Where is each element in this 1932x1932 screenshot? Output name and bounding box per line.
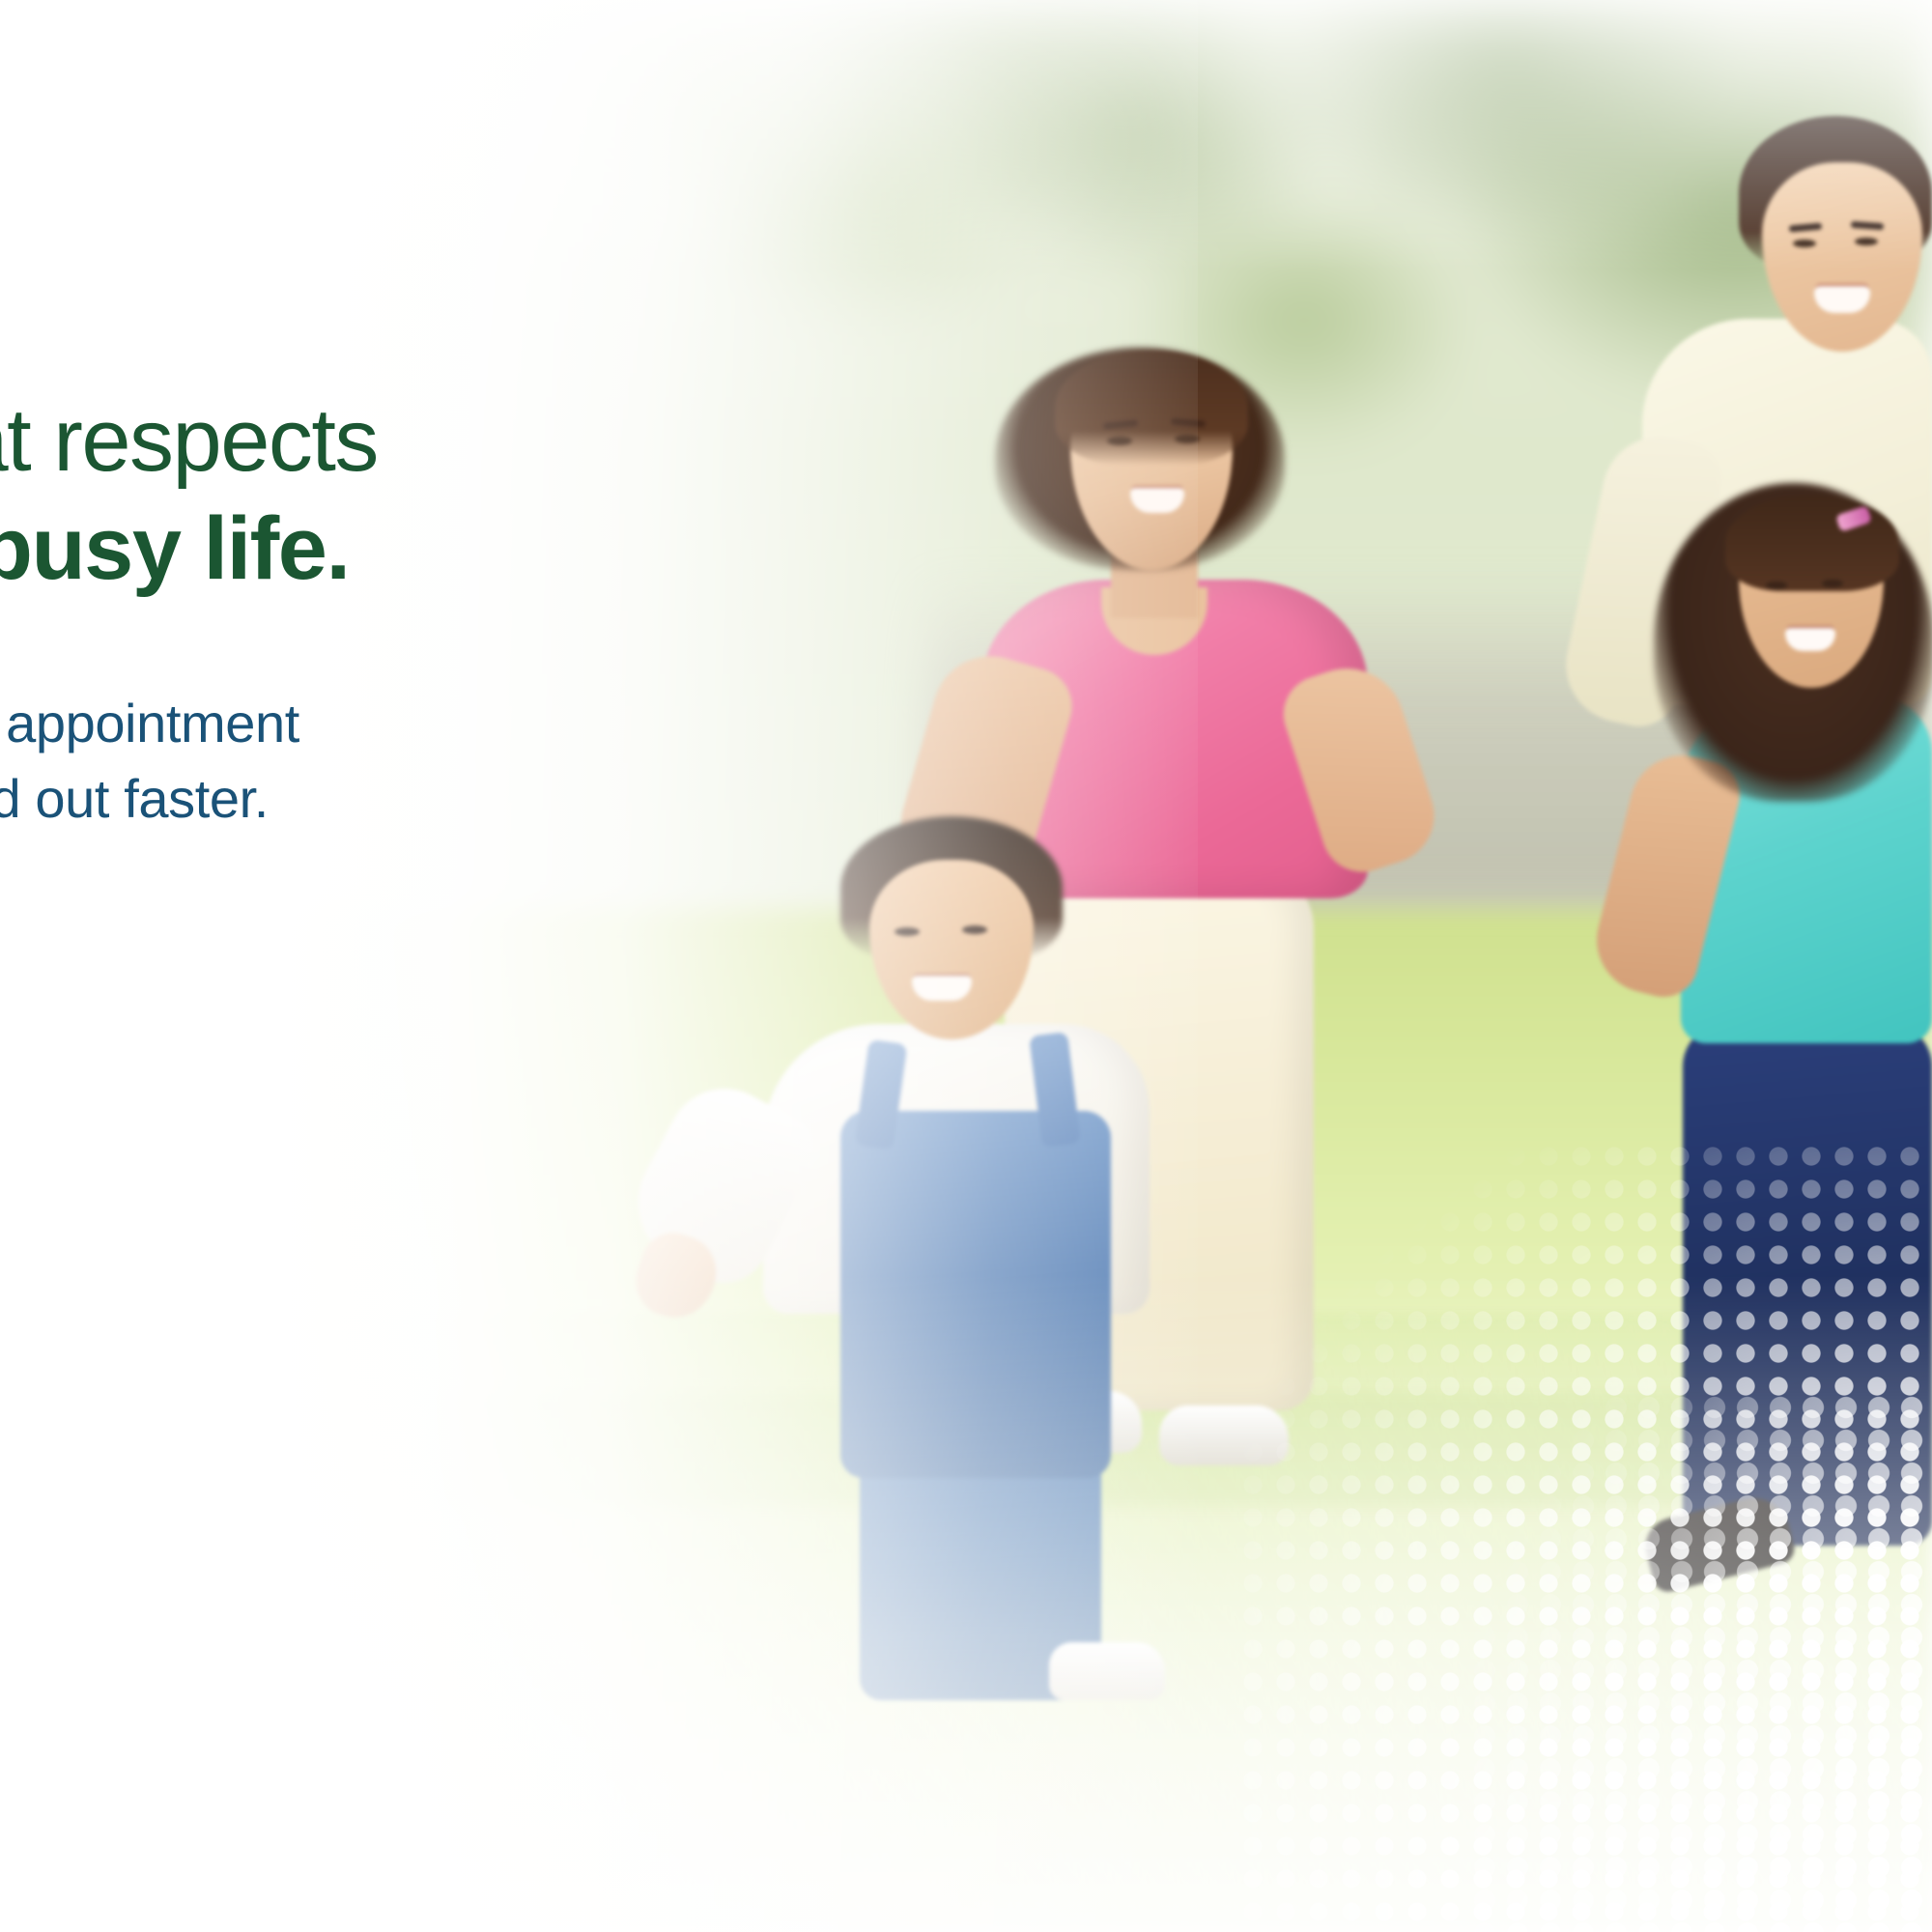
son-shoe	[1049, 1642, 1165, 1700]
subheadline-line-2: et in and out faster.	[0, 761, 647, 836]
headline-line-2: our busy life.	[0, 495, 647, 603]
daughter-hair-top	[1725, 495, 1899, 591]
daughter-shoe	[1639, 1491, 1797, 1595]
hero-photograph	[0, 0, 1932, 1932]
hero-banner: b that respects our busy life. dule an a…	[0, 0, 1932, 1932]
hero-subheadline: dule an appointment et in and out faster…	[0, 686, 647, 836]
father-smile	[1814, 286, 1870, 313]
page-title: b that respects our busy life.	[0, 386, 647, 603]
family-group	[0, 0, 1932, 1932]
son-eye-right	[962, 925, 987, 934]
son-smile	[912, 976, 972, 1001]
mother-eye-right	[1175, 435, 1200, 443]
mother-eye-left	[1107, 437, 1132, 445]
daughter-eye-right	[1822, 580, 1843, 587]
son-eye-left	[895, 927, 920, 936]
hero-copy-block: b that respects our busy life. dule an a…	[0, 386, 647, 836]
son-overalls	[840, 1111, 1111, 1478]
daughter-jeans	[1683, 1024, 1932, 1546]
mother-hair-top	[1055, 350, 1248, 466]
father-eye-right	[1855, 238, 1878, 245]
daughter-smile	[1785, 628, 1835, 651]
headline-line-1: b that respects	[0, 386, 647, 495]
mother-shoe-right	[1159, 1406, 1289, 1465]
daughter-eye-left	[1766, 582, 1787, 589]
father-eye-left	[1793, 240, 1816, 247]
subheadline-line-1: dule an appointment	[0, 686, 647, 760]
